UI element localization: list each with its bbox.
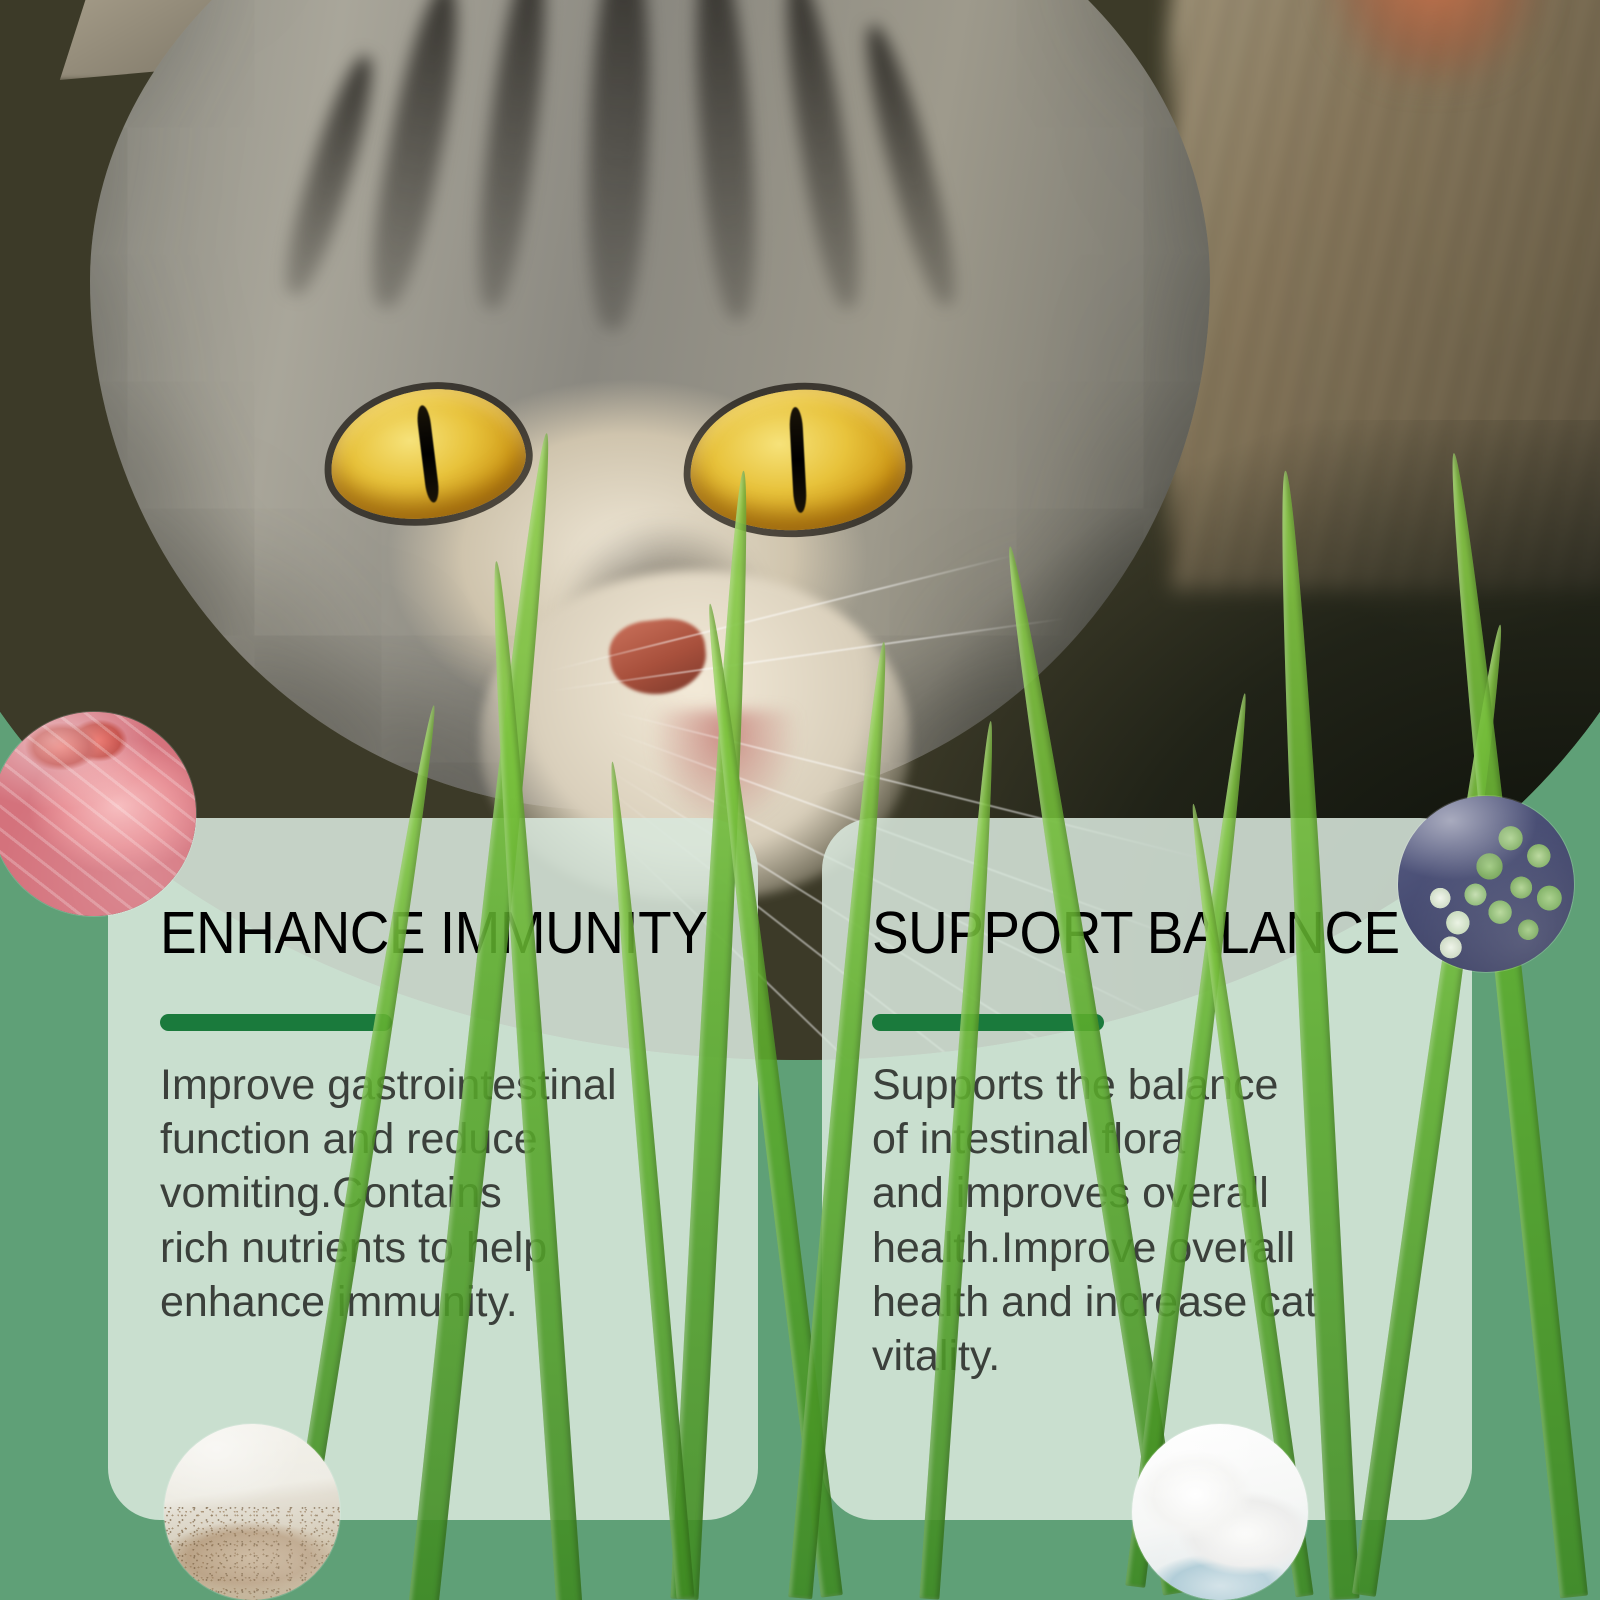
card-accent-rule <box>160 1014 392 1031</box>
product-benefits-poster: ENHANCE IMMUNITY Improve gastrointestina… <box>0 0 1600 1600</box>
powder-tablet-icon <box>1132 1424 1308 1600</box>
probiotic-cells-image <box>1398 796 1574 972</box>
card-title: ENHANCE IMMUNITY <box>160 904 707 963</box>
card-body-text: Improve gastrointestinal function and re… <box>160 1058 720 1329</box>
raw-meat-icon <box>0 712 196 916</box>
card-body-text: Supports the balance of intestinal flora… <box>872 1058 1428 1383</box>
card-title: SUPPORT BALANCE <box>872 904 1400 963</box>
card-support-balance: SUPPORT BALANCE Supports the balance of … <box>822 818 1472 1520</box>
probiotic-cells-icon <box>1398 796 1574 972</box>
raw-meat-image <box>0 712 196 916</box>
card-accent-rule <box>872 1014 1104 1031</box>
benefit-cards: ENHANCE IMMUNITY Improve gastrointestina… <box>0 0 1600 1600</box>
granules-icon <box>164 1424 340 1600</box>
powder-tablet-image <box>1132 1424 1308 1600</box>
granules-image <box>164 1424 340 1600</box>
card-enhance-immunity: ENHANCE IMMUNITY Improve gastrointestina… <box>108 818 758 1520</box>
